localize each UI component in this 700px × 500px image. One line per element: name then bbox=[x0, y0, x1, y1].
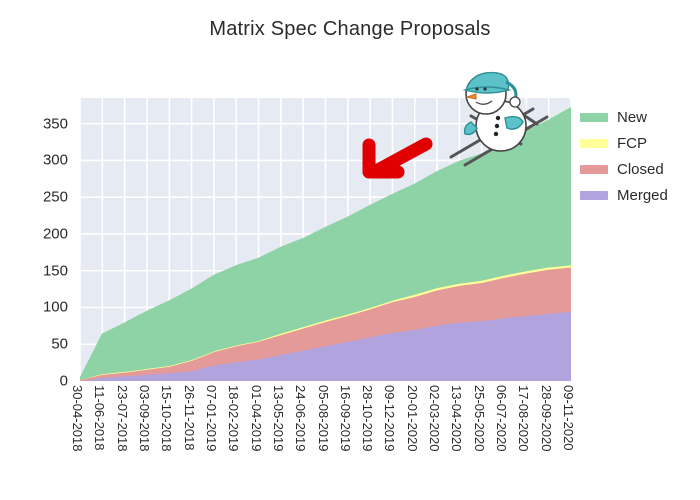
legend-item-merged[interactable]: Merged bbox=[580, 182, 698, 208]
y-axis-tick-label: 250 bbox=[43, 189, 68, 206]
x-axis-tick-label: 28-09-2020 bbox=[539, 385, 554, 452]
legend-swatch-closed bbox=[580, 165, 608, 174]
x-axis-tick-label: 25-05-2020 bbox=[472, 385, 487, 452]
y-axis-tick-label: 100 bbox=[43, 299, 68, 316]
chart-figure: Matrix Spec Change Proposals 05010015020… bbox=[0, 0, 700, 500]
y-axis: 050100150200250300350 bbox=[0, 98, 74, 381]
x-axis-tick-label: 18-02-2019 bbox=[226, 385, 241, 452]
stacked-area-plot bbox=[80, 98, 571, 381]
x-axis-tick-label: 13-05-2019 bbox=[271, 385, 286, 452]
x-axis-tick-label: 06-07-2020 bbox=[494, 385, 509, 452]
x-axis-tick-label: 17-08-2020 bbox=[516, 385, 531, 452]
x-axis-tick-label: 26-11-2018 bbox=[182, 385, 197, 451]
chart-title: Matrix Spec Change Proposals bbox=[0, 18, 700, 41]
legend-swatch-new bbox=[580, 113, 608, 122]
x-axis-tick-label: 28-10-2019 bbox=[360, 385, 375, 452]
legend-swatch-merged bbox=[580, 191, 608, 200]
x-axis-tick-label: 07-01-2019 bbox=[204, 385, 219, 452]
x-axis-tick-label: 11-06-2018 bbox=[92, 385, 107, 451]
legend-label: FCP bbox=[617, 135, 647, 152]
x-axis-tick-label: 23-07-2018 bbox=[115, 385, 130, 452]
y-axis-tick-label: 150 bbox=[43, 262, 68, 279]
y-axis-tick-label: 200 bbox=[43, 225, 68, 242]
legend-swatch-fcp bbox=[580, 139, 608, 148]
legend-label: New bbox=[617, 109, 647, 126]
legend-label: Closed bbox=[617, 161, 664, 178]
x-axis-tick-label: 13-04-2020 bbox=[449, 385, 464, 452]
x-axis-tick-label: 16-09-2019 bbox=[338, 385, 353, 452]
x-axis-tick-label: 20-01-2020 bbox=[405, 385, 420, 452]
y-axis-tick-label: 350 bbox=[43, 115, 68, 132]
x-axis-tick-label: 09-12-2019 bbox=[382, 385, 397, 452]
plot-area bbox=[80, 98, 571, 381]
legend-item-closed[interactable]: Closed bbox=[580, 156, 698, 182]
x-axis-tick-label: 03-09-2018 bbox=[137, 385, 152, 452]
x-axis-tick-label: 02-03-2020 bbox=[427, 385, 442, 452]
legend-item-new[interactable]: New bbox=[580, 104, 698, 130]
legend-label: Merged bbox=[617, 187, 668, 204]
x-axis: 30-04-201811-06-201823-07-201803-09-2018… bbox=[80, 381, 571, 496]
x-axis-tick-label: 09-11-2020 bbox=[561, 385, 576, 451]
y-axis-tick-label: 0 bbox=[60, 373, 68, 390]
x-axis-tick-label: 05-08-2019 bbox=[316, 385, 331, 452]
x-axis-tick-label: 24-06-2019 bbox=[293, 385, 308, 452]
legend-item-fcp[interactable]: FCP bbox=[580, 130, 698, 156]
x-axis-tick-label: 30-04-2018 bbox=[70, 385, 85, 452]
x-axis-tick-label: 01-04-2019 bbox=[249, 385, 264, 452]
x-axis-tick-label: 15-10-2018 bbox=[159, 385, 174, 452]
chart-legend: NewFCPClosedMerged bbox=[580, 104, 698, 208]
y-axis-tick-label: 50 bbox=[51, 336, 68, 353]
y-axis-tick-label: 300 bbox=[43, 152, 68, 169]
